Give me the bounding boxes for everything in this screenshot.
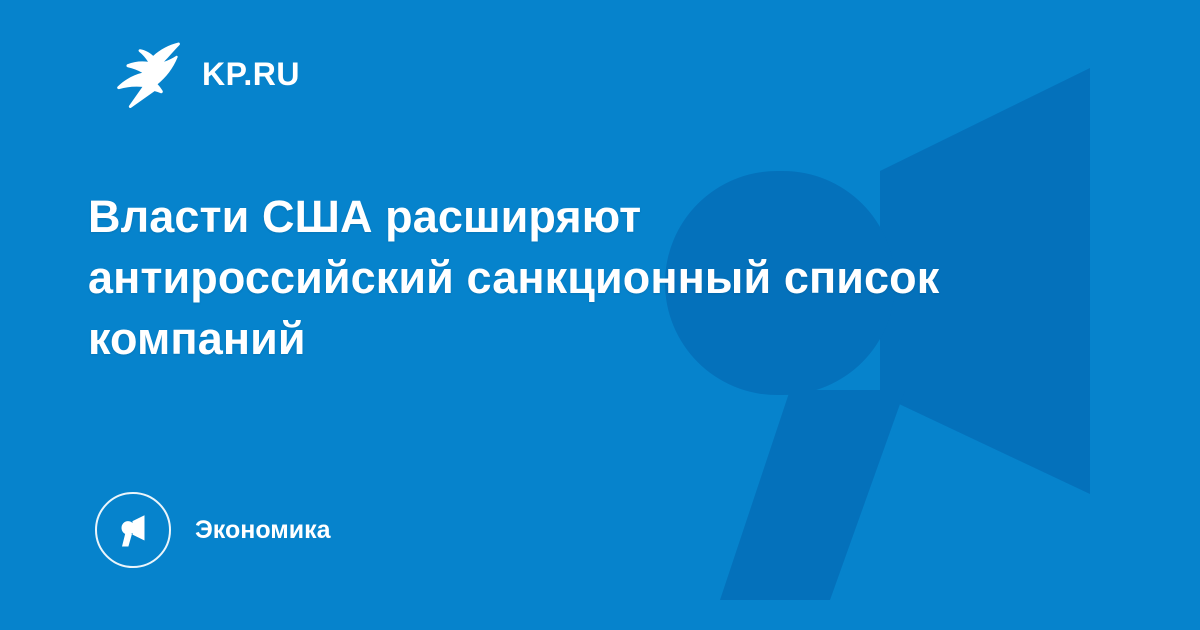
category-label: Экономика — [195, 518, 331, 543]
category-badge[interactable]: Экономика — [95, 489, 331, 571]
brand-logo[interactable]: KP.RU — [108, 36, 300, 112]
category-icon-circle — [95, 492, 171, 568]
megaphone-icon — [113, 510, 153, 550]
page-title: Власти США расширяют антироссийский санк… — [88, 186, 988, 369]
brand-wordmark: KP.RU — [202, 58, 300, 90]
swallow-bird-icon — [108, 39, 180, 109]
social-share-card: KP.RU Власти США расширяют антироссийски… — [0, 0, 1200, 630]
